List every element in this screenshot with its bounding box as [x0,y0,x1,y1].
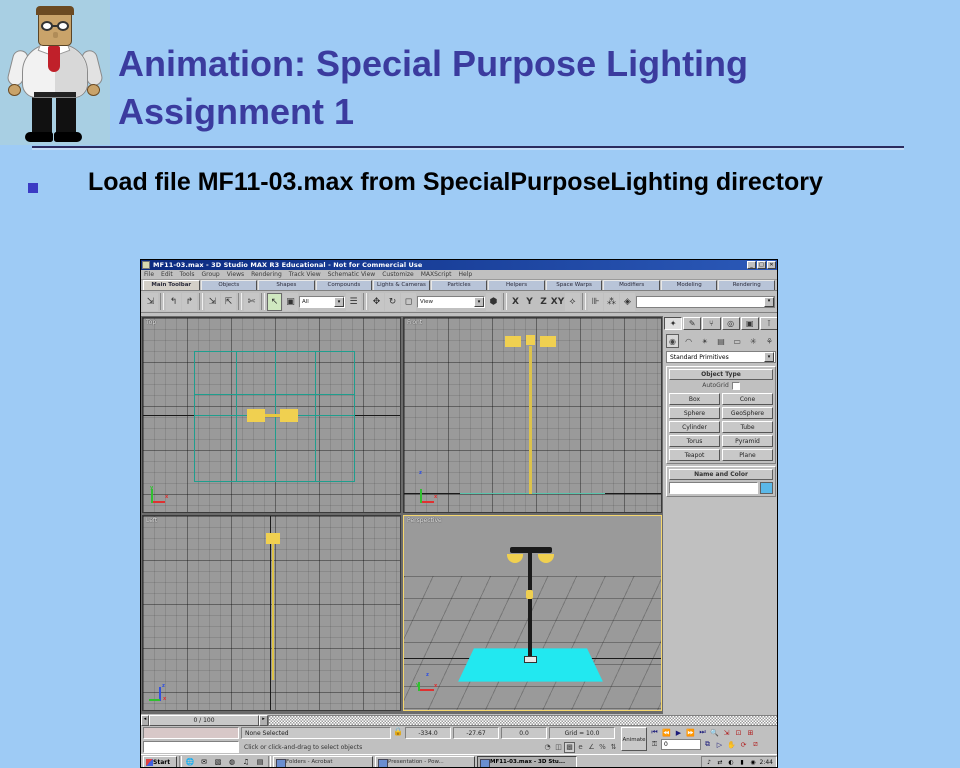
mascot-left-hand [8,84,21,96]
viewport-front[interactable]: z x Front [403,317,662,513]
taskbar-item-presentation[interactable]: Presentation - Pow... [375,756,475,768]
coordinate-y-field[interactable]: -27.67 [453,727,499,739]
restrict-to-z-icon[interactable]: Z [537,293,550,310]
create-cylinder-button[interactable]: Cylinder [669,421,720,433]
playback-controls: ⏮ ⏪ ▶ ⏩ ⏭ 🔍 ⇲ ⊡ ⊞ ⚿ 0 ⧉ ▷ ✋ ⟳ ⧄ [649,727,777,753]
selection-filter-value: All [300,299,334,305]
ground-plane-seg-2 [236,351,237,482]
category-geometry-icon[interactable]: ◉ [666,334,679,348]
window-selection-icon[interactable]: ◫ [553,742,564,753]
maximize-button[interactable]: □ [757,261,766,269]
tab-modify-icon[interactable]: ✎ [683,317,701,330]
select-and-rotate-icon[interactable]: ↻ [385,293,400,311]
max-app-icon [142,261,150,269]
restrict-to-x-icon[interactable]: X [509,293,522,310]
object-type-header[interactable]: Object Type [669,369,773,380]
viewport-label-front: Front [407,319,422,326]
name-and-color-header[interactable]: Name and Color [669,469,773,480]
select-and-scale-icon[interactable]: ◻ [401,293,416,311]
select-object-icon[interactable]: ↖ [267,293,282,311]
menu-file[interactable]: File [144,271,154,278]
lamp-base [524,656,537,663]
taskbar-separator [179,756,182,768]
category-space-warps-icon[interactable]: ✳ [747,334,760,348]
select-and-move-icon[interactable]: ✥ [369,293,384,311]
tab-main-toolbar[interactable]: Main Toolbar [143,280,200,290]
lamp-pole [529,346,532,494]
field-of-view-icon[interactable]: ▷ [714,739,725,750]
start-button[interactable]: Start [143,756,177,768]
title-line-2: Assignment 1 [118,88,928,136]
lock-selection-icon[interactable]: 🔒 [393,727,403,739]
link-icon[interactable]: ⇲ [205,293,220,311]
object-color-swatch[interactable] [760,482,773,494]
go-to-end-icon[interactable]: ⏭ [697,727,708,738]
cartoon-character-icon [8,4,100,142]
mascot-glasses-right [57,21,69,31]
lamp-head-left [247,409,265,422]
subcategory-value: Standard Primitives [667,354,764,361]
name-and-color-row [669,482,773,494]
selection-filter-combo[interactable]: All ▾ [299,296,345,308]
category-systems-icon[interactable]: ⚘ [763,334,776,348]
minimize-button[interactable]: _ [747,261,756,269]
tab-create-icon[interactable]: ✦ [664,317,682,330]
lamp-pole [528,552,532,660]
bind-to-space-warp-icon[interactable]: ✄ [244,293,259,311]
printer-icon[interactable]: ◐ [727,758,736,767]
title-line-1: Animation: Special Purpose Lighting [118,40,928,88]
taskbar-separator [268,756,271,768]
network-icon[interactable]: ⇄ [716,758,725,767]
spinner-snap-icon[interactable]: ⇅ [608,742,619,753]
axis-tripod-icon: z x [145,684,167,706]
max-titlebar: MF11-03.max - 3D Studio MAX R3 Education… [141,260,777,270]
tab-compounds[interactable]: Compounds [316,280,373,290]
current-frame-input[interactable]: 0 [661,739,701,750]
chevron-down-icon[interactable]: ▾ [474,297,484,307]
tab-rendering[interactable]: Rendering [718,280,775,290]
reference-coordinate-system-combo[interactable]: View ▾ [417,296,485,308]
channels-icon[interactable]: ◍ [226,756,238,768]
select-region-icon[interactable]: ▣ [283,293,298,311]
menu-group[interactable]: Group [201,271,219,278]
primitive-subcategory-combo[interactable]: Standard Primitives ▾ [666,351,776,363]
mascot-left-shoe [25,132,53,142]
track-bar[interactable] [268,715,778,726]
toolbar-separator [160,293,164,310]
grid-size-display: Grid = 10.0 [549,727,615,739]
status-prompt-row: Click or click-and-drag to select object… [241,741,619,753]
redo-icon[interactable]: ↱ [182,293,197,311]
zoom-icon[interactable]: 🔍 [709,727,720,738]
crossing-selection-icon[interactable]: ◔ [542,742,553,753]
show-desktop-icon[interactable]: ▧ [212,756,224,768]
mini-listener-input[interactable] [143,727,239,739]
create-pyramid-button[interactable]: Pyramid [722,435,773,447]
menu-schematic-view[interactable]: Schematic View [328,271,376,278]
create-plane-button[interactable]: Plane [722,449,773,461]
tab-modeling[interactable]: Modeling [661,280,718,290]
status-left-column [143,727,239,753]
media-icon[interactable]: ♫ [240,756,252,768]
angle-snap-icon[interactable]: ∠ [586,742,597,753]
bullet-marker-icon [28,183,38,193]
ref-coord-value: View [418,299,474,305]
named-selection-sets-field[interactable]: ▾ [636,296,775,308]
max-application-screenshot: MF11-03.max - 3D Studio MAX R3 Education… [140,259,778,768]
bullet-list: Load file MF11-03.max from SpecialPurpos… [0,168,960,206]
pan-icon[interactable]: ✋ [726,739,737,750]
explorer-icon[interactable]: ▤ [254,756,266,768]
ground-plane-edge [460,493,605,494]
time-slider-bar: ◂ 0 / 100 ▸ [141,714,778,726]
taskbar-clock[interactable]: 2:44 [760,759,773,766]
windows-taskbar: Start 🌐 ✉ ▧ ◍ ♫ ▤ Folders - Acrobat Pres… [141,754,778,768]
command-panel: ✦ ✎ ⑂ ◎ ▣ ⊺ ◉ ◠ ✴ ▤ ▭ ✳ ⚘ Standard Primi… [663,316,778,714]
autogrid-checkbox[interactable] [732,382,740,390]
lamp-head-right [538,554,554,563]
taskbar-item-max[interactable]: MF11-03.max - 3D Stu... [477,756,577,768]
tab-particles[interactable]: Particles [431,280,488,290]
tab-utilities-icon[interactable]: ⊺ [760,317,778,330]
key-mode-icon[interactable]: ⚿ [649,739,660,750]
lamp-head-right [280,409,298,422]
category-cameras-icon[interactable]: ▤ [714,334,727,348]
mascot-glasses-bridge [52,25,58,27]
menu-customize[interactable]: Customize [382,271,414,278]
create-tube-button[interactable]: Tube [722,421,773,433]
undo-icon[interactable]: ↰ [166,293,181,311]
status-center-column: None Selected 🔒 -334.0 -27.67 0.0 Grid =… [241,727,619,753]
viewport-label-left: Left [146,517,157,524]
internet-explorer-icon[interactable]: 🌐 [184,756,196,768]
named-selection-value [637,297,764,307]
tab-hierarchy-icon[interactable]: ⑂ [702,317,720,330]
coordinate-x-field[interactable]: -334.0 [405,727,451,739]
outlook-icon[interactable]: ✉ [198,756,210,768]
tab-lights-cameras[interactable]: Lights & Cameras [373,280,430,290]
create-box-button[interactable]: Box [669,393,720,405]
viewport-grid: x y Top z [141,316,663,714]
create-geosphere-button[interactable]: GeoSphere [722,407,773,419]
toolbar-separator [199,293,203,310]
toolbar-separator [503,293,507,310]
mascot-nose [53,32,58,38]
toolbar-separator [363,293,367,310]
autogrid-label: AutoGrid [702,382,729,389]
world-axis-vertical [270,516,271,710]
lamp-gizmo-marker [526,590,533,599]
autogrid-row[interactable]: AutoGrid [669,380,773,391]
tab-modifiers[interactable]: Modifiers [603,280,660,290]
max-main-toolbar: ⇲ ↰ ↱ ⇲ ⇱ ✄ ↖ ▣ All ▾ ☰ ✥ ↻ ◻ View ▾ ⬢ X… [141,291,777,313]
animate-button[interactable]: Animate [621,727,647,751]
chevron-down-icon[interactable]: ▾ [334,297,344,307]
ground-plane-seg-4 [315,351,316,482]
max-workspace: x y Top z [141,316,778,714]
page-title: Animation: Special Purpose Lighting Assi… [118,40,928,136]
lamp-crossbar [265,414,280,417]
axis-tripod-icon: x y [147,486,169,508]
next-frame-icon[interactable]: ⏩ [685,727,696,738]
toolbar-separator [261,293,265,310]
mascot-belt [34,92,76,97]
zoom-extents-icon[interactable]: ⊡ [733,727,744,738]
previous-frame-icon[interactable]: ⏪ [661,727,672,738]
coordinate-z-field[interactable]: 0.0 [501,727,547,739]
max-tab-panel: Main Toolbar Objects Shapes Compounds Li… [141,280,777,291]
select-and-link-icon[interactable]: ⇲ [143,293,158,311]
mirror-icon[interactable]: ⟡ [565,293,580,311]
chevron-down-icon[interactable]: ▾ [764,297,774,307]
selection-info-text: None Selected [241,727,391,739]
time-configuration-icon[interactable]: ⧉ [702,739,713,750]
object-type-buttons: Box Cone Sphere GeoSphere Cylinder Tube … [669,393,773,461]
maxscript-listener-input[interactable] [143,741,239,753]
object-name-input[interactable] [669,482,758,494]
zoom-all-icon[interactable]: ⇲ [721,727,732,738]
create-torus-button[interactable]: Torus [669,435,720,447]
time-slider-handle[interactable]: 0 / 100 [149,715,259,726]
tab-display-icon[interactable]: ▣ [741,317,759,330]
category-lights-icon[interactable]: ✴ [698,334,711,348]
max-menubar: File Edit Tools Group Views Rendering Tr… [141,270,777,280]
max-window-title: MF11-03.max - 3D Studio MAX R3 Education… [153,261,747,269]
mascot-tie [48,46,60,72]
system-tray: ♪ ⇄ ◐ ▮ ◉ 2:44 [701,756,777,768]
arc-rotate-icon[interactable]: ⟳ [738,739,749,750]
prompt-text: Click or click-and-drag to select object… [241,744,542,751]
lamp-crossbar [510,547,552,553]
menu-tools[interactable]: Tools [180,271,195,278]
axis-tripod-icon: z x [416,486,438,508]
next-frame-button[interactable]: ▸ [259,715,268,726]
menu-maxscript[interactable]: MAXScript [421,271,452,278]
name-and-color-rollout: Name and Color [666,466,776,497]
restrict-to-plane-icon[interactable]: XY [551,293,564,310]
create-sphere-button[interactable]: Sphere [669,407,720,419]
mascot-panel [0,0,110,145]
menu-rendering[interactable]: Rendering [251,271,282,278]
use-center-icon[interactable]: ⬢ [486,293,501,311]
lamp-head [266,533,280,544]
lamp-head-left [507,554,523,563]
toolbar-separator [238,293,242,310]
taskbar-item-folders[interactable]: Folders - Acrobat [273,756,373,768]
viewport-left[interactable]: z x Left [142,515,401,711]
play-animation-icon[interactable]: ▶ [673,727,684,738]
degradation-override-icon[interactable]: ▩ [564,742,575,753]
zoom-region-icon[interactable]: ⊞ [745,727,756,738]
snap-toggle-icon[interactable]: e [575,742,586,753]
menu-edit[interactable]: Edit [161,271,173,278]
slide-header: Animation: Special Purpose Lighting Assi… [0,0,960,152]
volume-icon[interactable]: ♪ [705,758,714,767]
viewport-top[interactable]: x y Top [142,317,401,513]
previous-frame-button[interactable]: ◂ [141,715,149,726]
lamp-crossbar [526,335,535,345]
frame-row: ⚿ 0 ⧉ ▷ ✋ ⟳ ⧄ [649,739,777,750]
chevron-down-icon[interactable]: ▾ [764,352,774,362]
menu-views[interactable]: Views [227,271,244,278]
menu-help[interactable]: Help [459,271,473,278]
toolbar-separator [582,293,586,310]
viewport-label-top: Top [146,319,156,326]
viewport-perspective[interactable]: z y x Perspective [403,515,662,711]
unlink-icon[interactable]: ⇱ [221,293,236,311]
mascot-right-shoe [54,132,82,142]
max-status-bar: None Selected 🔒 -334.0 -27.67 0.0 Grid =… [141,726,778,754]
status-selection-row: None Selected 🔒 -334.0 -27.67 0.0 Grid =… [241,727,619,739]
create-teapot-button[interactable]: Teapot [669,449,720,461]
go-to-start-icon[interactable]: ⏮ [649,727,660,738]
object-type-rollout: Object Type AutoGrid Box Cone Sphere Geo… [666,366,776,464]
mascot-hair [36,6,74,15]
grid-major [404,318,661,512]
lamp-head-left [505,336,521,347]
menu-track-view[interactable]: Track View [289,271,321,278]
axis-tripod-icon: z y x [414,674,436,696]
mascot-right-hand [87,84,100,96]
battery-icon[interactable]: ▮ [738,758,747,767]
category-shapes-icon[interactable]: ◠ [682,334,695,348]
tab-shapes[interactable]: Shapes [258,280,315,290]
tab-space-warps[interactable]: Space Warps [546,280,603,290]
array-icon[interactable]: ⁂ [604,293,619,311]
align-icon[interactable]: ⊪ [588,293,603,311]
select-by-name-icon[interactable]: ☰ [346,293,361,311]
time-icon[interactable]: ◉ [749,758,758,767]
tab-objects[interactable]: Objects [201,280,258,290]
viewport-label-perspective: Perspective [407,517,442,524]
title-divider [32,146,904,150]
snapshot-icon[interactable]: ◈ [620,293,635,311]
playback-row: ⏮ ⏪ ▶ ⏩ ⏭ 🔍 ⇲ ⊡ ⊞ [649,727,777,738]
tab-motion-icon[interactable]: ◎ [722,317,740,330]
command-panel-tabs: ✦ ✎ ⑂ ◎ ▣ ⊺ [664,317,778,331]
close-button[interactable]: ✕ [767,261,776,269]
restrict-to-y-icon[interactable]: Y [523,293,536,310]
lamp-head-right [540,336,556,347]
create-cone-button[interactable]: Cone [722,393,773,405]
tab-helpers[interactable]: Helpers [488,280,545,290]
min-max-toggle-icon[interactable]: ⧄ [750,739,761,750]
percent-snap-icon[interactable]: % [597,742,608,753]
create-category-row: ◉ ◠ ✴ ▤ ▭ ✳ ⚘ [664,333,778,349]
category-helpers-icon[interactable]: ▭ [731,334,744,348]
bullet-item-text: Load file MF11-03.max from SpecialPurpos… [88,168,823,197]
lamp-pole [272,540,274,680]
